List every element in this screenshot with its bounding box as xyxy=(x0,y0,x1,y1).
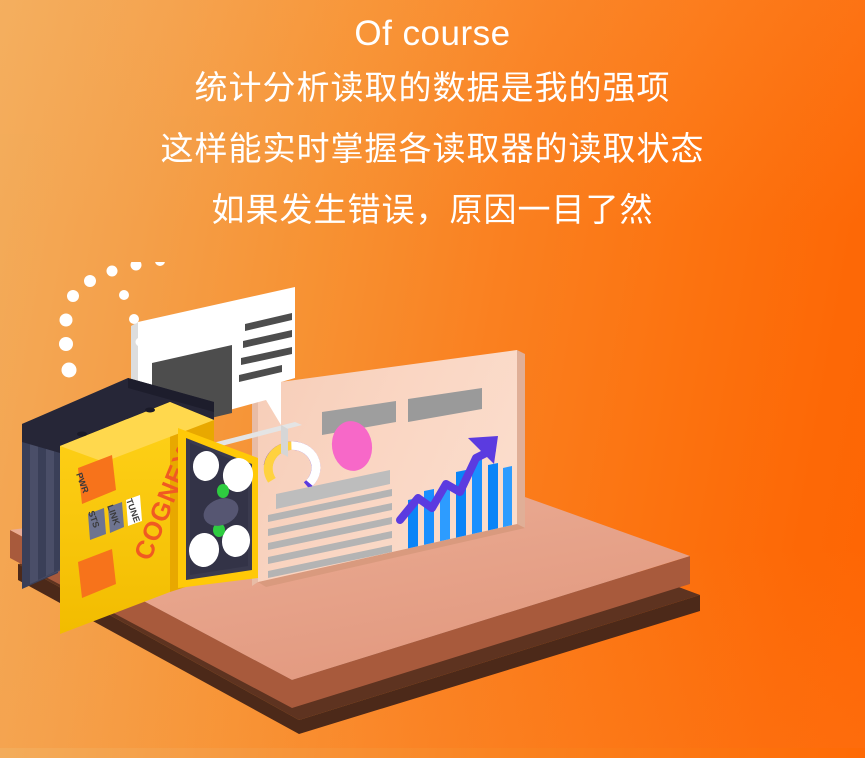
headline-english: Of course xyxy=(0,16,865,51)
headline-chinese-line-1: 统计分析读取的数据是我的强项 xyxy=(0,71,865,104)
poster-canvas: Of course 统计分析读取的数据是我的强项 这样能实时掌握各读取器的读取状… xyxy=(0,0,865,758)
isometric-scene: PWR STS LINK TUNE COGNEX xyxy=(0,262,865,758)
headline-chinese-line-2: 这样能实时掌握各读取器的读取状态 xyxy=(0,132,865,165)
bottom-strip xyxy=(0,748,865,758)
headline-chinese-line-3: 如果发生错误，原因一目了然 xyxy=(0,193,865,226)
scanner-lens-panel[interactable] xyxy=(178,428,258,588)
illustration-stage: PWR STS LINK TUNE COGNEX xyxy=(0,262,865,758)
headline-block: Of course 统计分析读取的数据是我的强项 这样能实时掌握各读取器的读取状… xyxy=(0,16,865,226)
indicator-led-top xyxy=(217,484,229,498)
